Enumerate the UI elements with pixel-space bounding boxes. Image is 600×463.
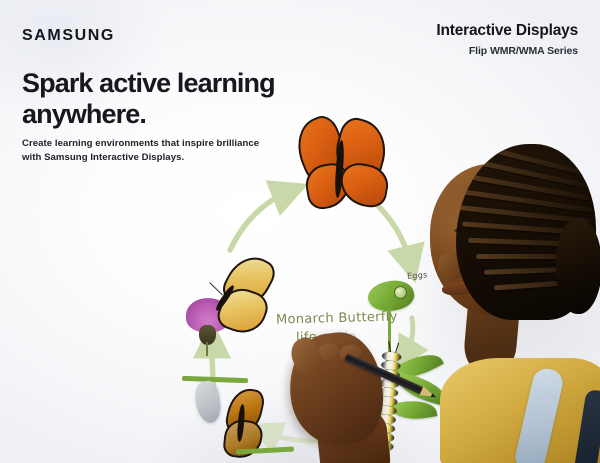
samsung-logo: SAMSUNG — [22, 27, 115, 45]
hero-headline-line2: anywhere. — [22, 99, 275, 130]
thistle-stem — [206, 342, 208, 356]
hero-subcopy-line2: with Samsung Interactive Displays. — [22, 151, 259, 165]
hero-headline-line1: Spark active learning — [22, 68, 275, 99]
butterfly-wing — [337, 160, 392, 210]
arrow-eggs-to-caterpillar — [406, 318, 413, 354]
student-figure — [414, 140, 600, 463]
diagram-title-line1: Monarch Butterfly — [276, 309, 398, 327]
product-line-title: Interactive Displays — [436, 22, 578, 41]
arrow-thistle-to-top — [230, 192, 288, 250]
product-series-subtitle: Flip WMR/WMA Series — [436, 45, 578, 57]
hero-subcopy: Create learning environments that inspir… — [22, 137, 259, 166]
hair-bun — [556, 218, 600, 314]
adult-butterfly-top — [292, 118, 397, 218]
hero-headline: Spark active learning anywhere. — [22, 68, 275, 131]
marketing-hero-screenshot: Eggs Monarch Butterfly life cycle — [0, 0, 600, 463]
product-tagline: Interactive Displays Flip WMR/WMA Series — [436, 22, 578, 57]
hero-subcopy-line1: Create learning environments that inspir… — [22, 137, 259, 151]
